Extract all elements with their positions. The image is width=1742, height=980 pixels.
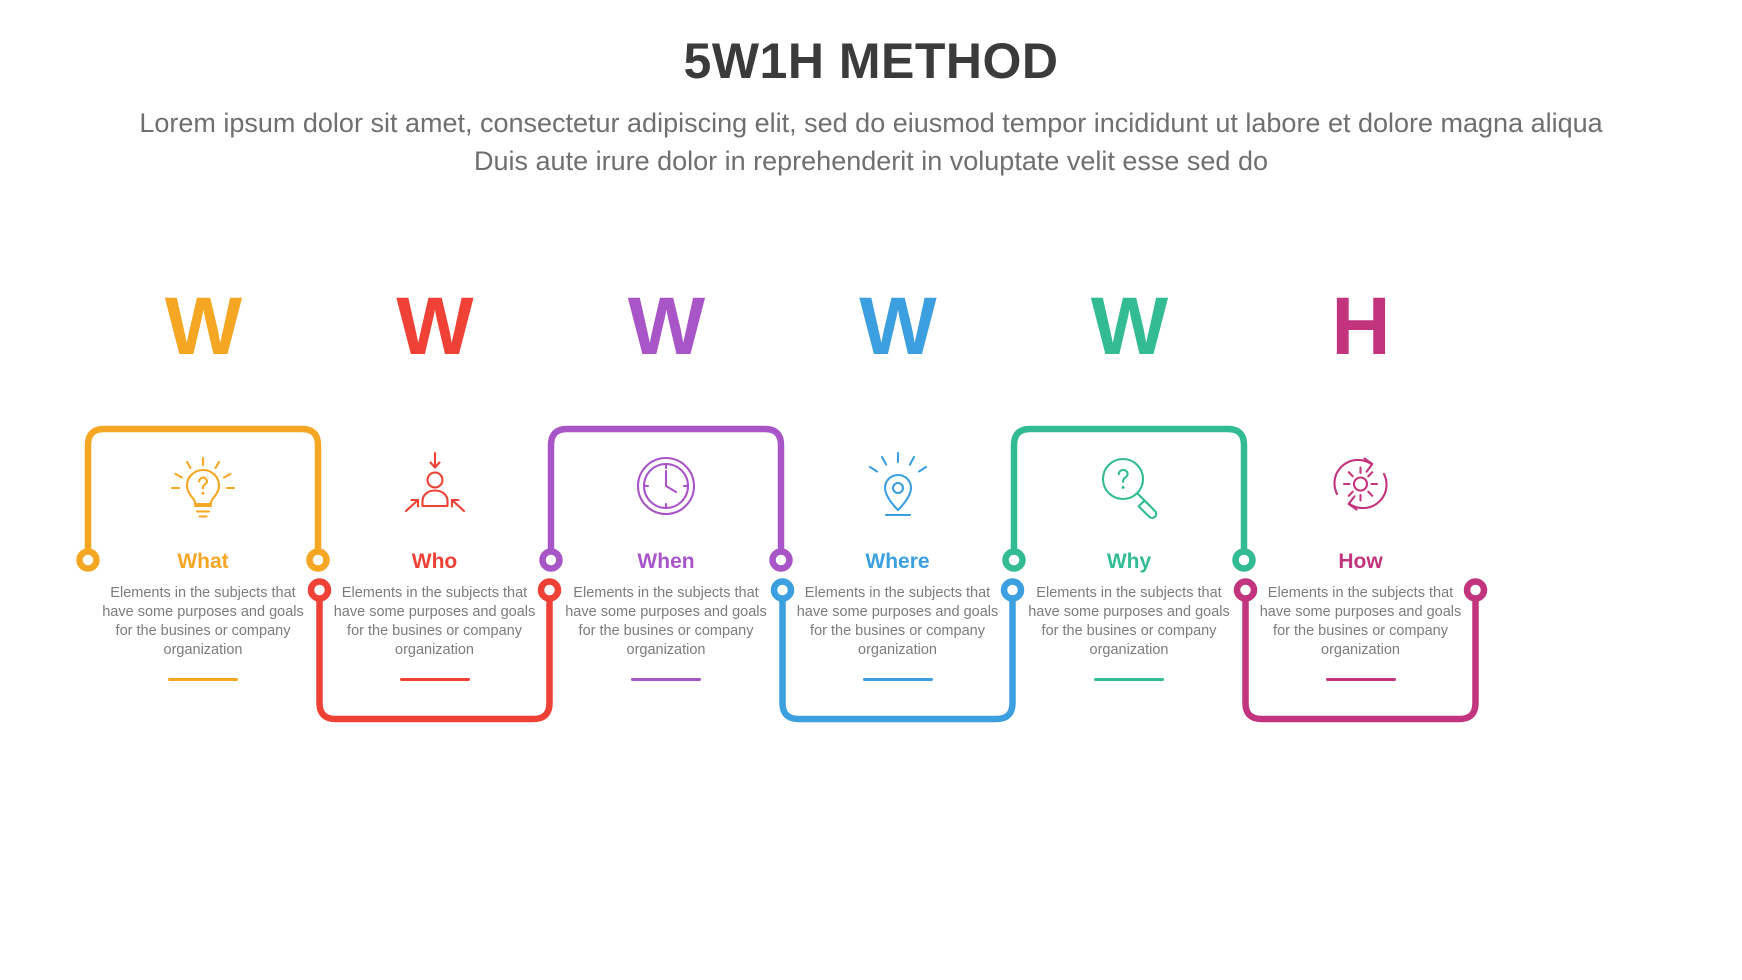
column-underline [1326,678,1396,681]
page-title: 5W1H METHOD [0,36,1742,86]
column-underline [400,678,470,681]
clock-icon [551,440,781,532]
person-arrows-icon [320,440,550,532]
column-description: Elements in the subjects that have some … [551,584,781,660]
column-what[interactable]: WhatElements in the subjects that have s… [88,440,318,681]
column-when[interactable]: WhenElements in the subjects that have s… [551,440,781,681]
big-letter-when: W [551,283,781,371]
column-description: Elements in the subjects that have some … [1014,584,1244,660]
column-how[interactable]: HowElements in the subjects that have so… [1246,440,1476,681]
column-who[interactable]: WhoElements in the subjects that have so… [320,440,550,681]
big-letter-why: W [1014,283,1244,371]
big-letter-who: W [320,283,550,371]
page-subtitle: Lorem ipsum dolor sit amet, consectetur … [136,104,1606,181]
letters-row: WWWWWH [0,283,1742,373]
location-pin-icon [783,440,1013,532]
header: 5W1H METHOD Lorem ipsum dolor sit amet, … [0,36,1742,181]
column-title: What [88,550,318,574]
column-why[interactable]: WhyElements in the subjects that have so… [1014,440,1244,681]
column-underline [168,678,238,681]
big-letter-where: W [783,283,1013,371]
column-title: Where [783,550,1013,574]
column-description: Elements in the subjects that have some … [1246,584,1476,660]
lightbulb-question-icon [88,440,318,532]
column-title: Who [320,550,550,574]
column-underline [863,678,933,681]
magnifier-question-icon [1014,440,1244,532]
infographic-canvas: 5W1H METHOD Lorem ipsum dolor sit amet, … [0,0,1742,980]
column-title: How [1246,550,1476,574]
gear-refresh-icon [1246,440,1476,532]
column-where[interactable]: WhereElements in the subjects that have … [783,440,1013,681]
big-letter-how: H [1246,283,1476,371]
big-letter-what: W [88,283,318,371]
column-title: Why [1014,550,1244,574]
column-description: Elements in the subjects that have some … [88,584,318,660]
column-underline [1094,678,1164,681]
column-description: Elements in the subjects that have some … [783,584,1013,660]
column-title: When [551,550,781,574]
column-description: Elements in the subjects that have some … [320,584,550,660]
column-underline [631,678,701,681]
